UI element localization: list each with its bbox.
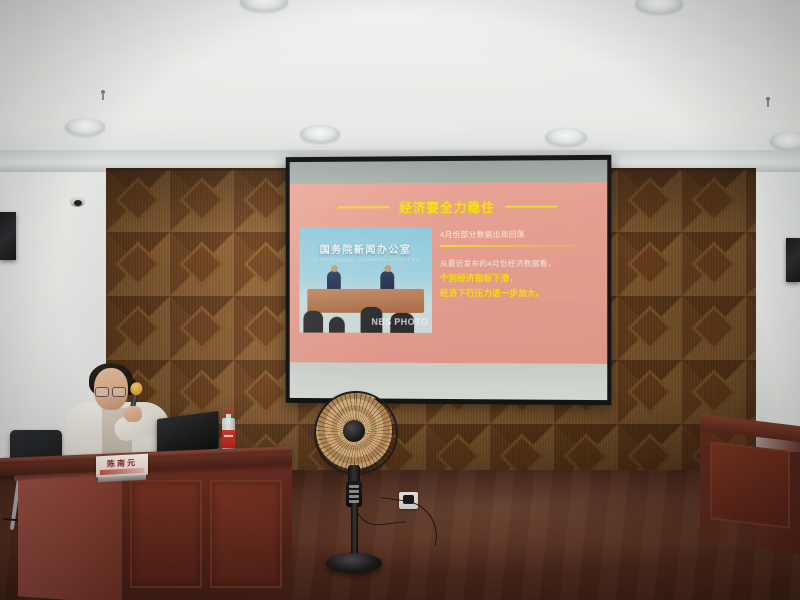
slide-body-line-highlight: 个别经济指标下滑， <box>440 270 597 286</box>
presenter-hand <box>124 406 142 422</box>
glasses-icon <box>95 387 126 395</box>
title-rule-right <box>505 205 557 207</box>
photo-watermark: NBS PHOTO <box>371 317 428 327</box>
sprinkler-head <box>101 90 105 94</box>
nameplate: 陈南元 <box>96 454 148 483</box>
fan-button[interactable] <box>349 485 359 488</box>
banner-english-text: THE STATE COUNCIL INFORMATION OFFICE P.R… <box>299 258 432 262</box>
screen-surface: 经济要全力稳住 国务院新闻办公室 THE STATE COUNCIL INFOR… <box>290 160 608 400</box>
podium-side <box>18 464 122 600</box>
seated-official <box>327 271 341 291</box>
bottle-cap <box>225 410 232 414</box>
slide-body-text: 4月份部分数据出现回落 从最近发布的4月份经济数据看， 个别经济指标下滑， 经济… <box>440 229 597 302</box>
podium-panel <box>130 480 202 588</box>
ceiling-downlight <box>545 128 587 146</box>
projection-screen: 经济要全力稳住 国务院新闻办公室 THE STATE COUNCIL INFOR… <box>286 155 612 405</box>
slide-body-rule <box>440 245 581 247</box>
conference-room-photo: 经济要全力稳住 国务院新闻办公室 THE STATE COUNCIL INFOR… <box>0 0 800 600</box>
slide-embedded-photo: 国务院新闻办公室 THE STATE COUNCIL INFORMATION O… <box>299 227 432 333</box>
bottle-label <box>222 430 235 448</box>
microphone-head <box>129 381 144 396</box>
slide-body-heading: 4月份部分数据出现回落 <box>440 229 597 240</box>
banner-chinese-text: 国务院新闻办公室 <box>299 241 432 256</box>
side-desk <box>700 420 800 560</box>
audience-silhouette <box>329 317 345 333</box>
slide-body-line-highlight: 经济下行压力进一步加大。 <box>440 286 597 302</box>
wall-speaker-left <box>0 212 16 260</box>
slide-title-row: 经济要全力稳住 <box>290 196 608 216</box>
wall-speaker-right <box>786 238 800 282</box>
slide-body-line: 从最近发布的4月份经济数据看， <box>440 256 597 270</box>
presentation-slide: 经济要全力稳住 国务院新闻办公室 THE STATE COUNCIL INFOR… <box>290 182 608 364</box>
fan-hub <box>343 420 365 442</box>
press-conference-banner: 国务院新闻办公室 THE STATE COUNCIL INFORMATION O… <box>299 241 432 262</box>
dome-security-camera <box>70 196 85 207</box>
ceiling-downlight <box>300 125 340 143</box>
screen-top-band <box>290 160 608 184</box>
title-rule-left <box>338 206 389 208</box>
slide-title: 经济要全力稳住 <box>399 197 495 216</box>
podium-front <box>118 464 292 600</box>
pedestal-fan <box>308 393 400 580</box>
ceiling-downlight <box>65 118 105 136</box>
sprinkler-head <box>766 97 770 101</box>
side-desk-panel <box>710 441 790 529</box>
fan-button[interactable] <box>349 495 359 498</box>
fan-button[interactable] <box>349 490 359 493</box>
ceiling-downlight <box>770 132 800 150</box>
fan-base <box>326 553 382 573</box>
audience-silhouette <box>303 311 323 333</box>
podium-panel <box>210 480 282 588</box>
